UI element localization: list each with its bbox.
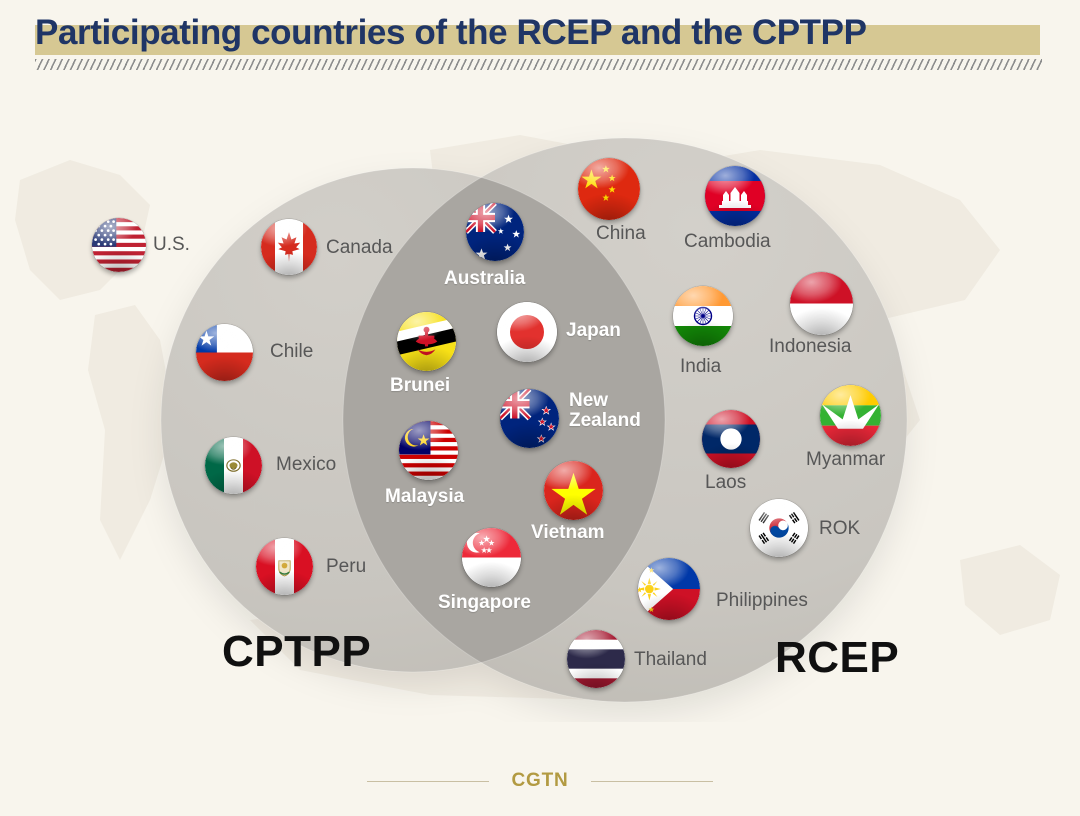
country-label-china: China (596, 224, 646, 244)
country-label-japan: Japan (566, 321, 621, 341)
flag-rok (750, 499, 808, 557)
country-label-peru: Peru (326, 557, 366, 577)
venn-set-label-cptpp: CPTPP (222, 627, 371, 677)
flag-brunei (397, 312, 456, 371)
footer: CGTN (0, 768, 1080, 794)
country-label-chile: Chile (270, 342, 313, 362)
country-label-brunei: Brunei (390, 376, 450, 396)
header: Participating countries of the RCEP and … (0, 0, 1080, 82)
country-label-vietnam: Vietnam (531, 523, 605, 543)
page-title: Participating countries of the RCEP and … (35, 13, 1045, 53)
flag-indonesia (790, 272, 853, 335)
flag-peru (256, 538, 313, 595)
flag-us (92, 218, 146, 272)
footer-rule-right (591, 781, 713, 782)
flag-china (578, 158, 640, 220)
flag-malaysia (399, 421, 458, 480)
flag-chile (196, 324, 253, 381)
flag-singapore (462, 528, 521, 587)
country-label-cambodia: Cambodia (684, 232, 771, 252)
country-label-australia: Australia (444, 269, 525, 289)
flag-vietnam (544, 461, 603, 520)
flag-thailand (567, 630, 625, 688)
country-label-rok: ROK (819, 519, 860, 539)
flag-cambodia (705, 166, 765, 226)
country-label-thailand: Thailand (634, 650, 707, 670)
flag-myanmar (820, 385, 881, 446)
flag-new-zealand (500, 389, 559, 448)
flag-canada (261, 219, 317, 275)
cgtn-logo: CGTN (511, 770, 568, 792)
hatched-divider (35, 59, 1042, 70)
country-label-malaysia: Malaysia (385, 487, 464, 507)
flag-laos (702, 410, 760, 468)
footer-rule-left (367, 781, 489, 782)
flag-australia (466, 203, 524, 261)
country-label-mexico: Mexico (276, 455, 336, 475)
venn-set-label-rcep: RCEP (775, 633, 899, 683)
flag-india (673, 286, 733, 346)
country-label-indonesia: Indonesia (769, 337, 851, 357)
country-label-singapore: Singapore (438, 593, 531, 613)
flag-mexico (205, 437, 262, 494)
country-label-canada: Canada (326, 238, 393, 258)
country-label-myanmar: Myanmar (806, 450, 885, 470)
country-label-new-zealand: New Zealand (569, 391, 641, 431)
country-label-laos: Laos (705, 473, 746, 493)
flag-philippines (638, 558, 700, 620)
country-label-us: U.S. (153, 235, 190, 255)
country-label-india: India (680, 357, 721, 377)
flag-japan (497, 302, 557, 362)
country-label-philippines: Philippines (716, 591, 808, 611)
